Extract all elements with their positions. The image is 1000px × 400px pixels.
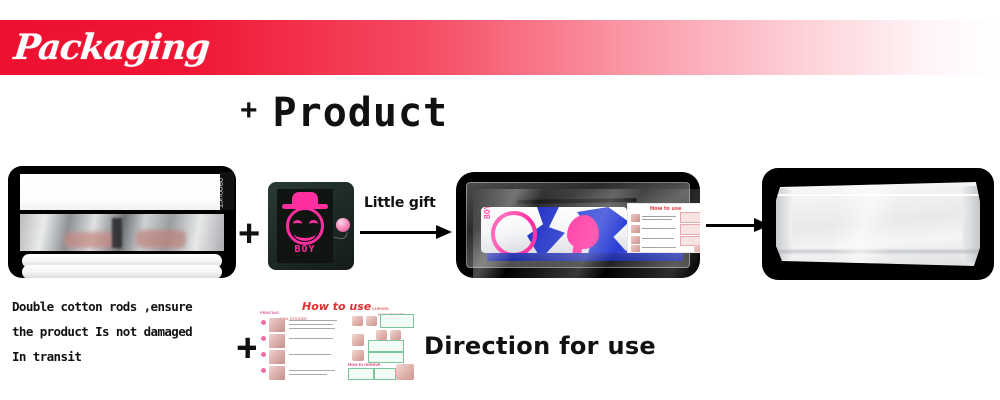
- caption-line-3: In transit: [12, 344, 252, 369]
- instruction-remove-title: How to remove: [348, 362, 380, 367]
- transparent-bag: BOY How to use: [466, 182, 690, 268]
- white-mailer-bag: [776, 182, 980, 266]
- pink-ring-icon: [491, 211, 537, 253]
- product-box-caption: Double cotton rods ,ensure the product I…: [12, 294, 252, 369]
- banner-title: Packaging: [12, 28, 211, 68]
- smile-icon: [294, 226, 316, 241]
- product-side-label: PRODUCT: [220, 172, 234, 210]
- product-white-panel: [20, 174, 224, 210]
- product-heading: +Product: [240, 88, 448, 136]
- product-clear-window: [20, 214, 224, 251]
- sticker-text: BOY: [277, 244, 333, 255]
- knob-stem: [333, 230, 347, 241]
- instruction-sheet-title: How to use: [302, 300, 371, 313]
- direction-for-use-label: Direction for use: [424, 332, 656, 360]
- packaging-infographic: Packaging +Product PRODUCT Double cotton…: [0, 0, 1000, 400]
- packaging-banner: Packaging: [0, 20, 1000, 75]
- rolled-product: BOY: [481, 207, 627, 253]
- product-box-photo: PRODUCT: [8, 166, 236, 278]
- plus-icon: +: [240, 94, 259, 127]
- instruction-header-left: PRINTING: [260, 310, 279, 315]
- product-heading-label: Product: [273, 90, 449, 136]
- plus-icon-top: +: [238, 215, 260, 253]
- cotton-rod-bottom: [22, 265, 222, 278]
- little-gift-label: Little gift: [364, 195, 436, 211]
- bagged-instruction-sheet: How to use: [627, 203, 700, 253]
- instruction-header-right: CURVED: [372, 306, 389, 311]
- pink-blob-icon: [567, 215, 599, 249]
- bagged-product-photo: BOY How to use: [456, 172, 700, 278]
- gift-sticker-photo: BOY: [268, 182, 354, 270]
- instruction-sheet-photo: How to use PRINTING CURVED NAIL STICKER …: [256, 296, 416, 388]
- caption-line-2: the product Is not damaged: [12, 319, 252, 344]
- bagged-sheet-title: How to use: [650, 206, 681, 212]
- roll-brand-text: BOY: [483, 207, 492, 219]
- black-stick: [517, 198, 637, 204]
- caption-line-1: Double cotton rods ,ensure: [12, 294, 252, 319]
- final-mailer-photo: [762, 168, 994, 280]
